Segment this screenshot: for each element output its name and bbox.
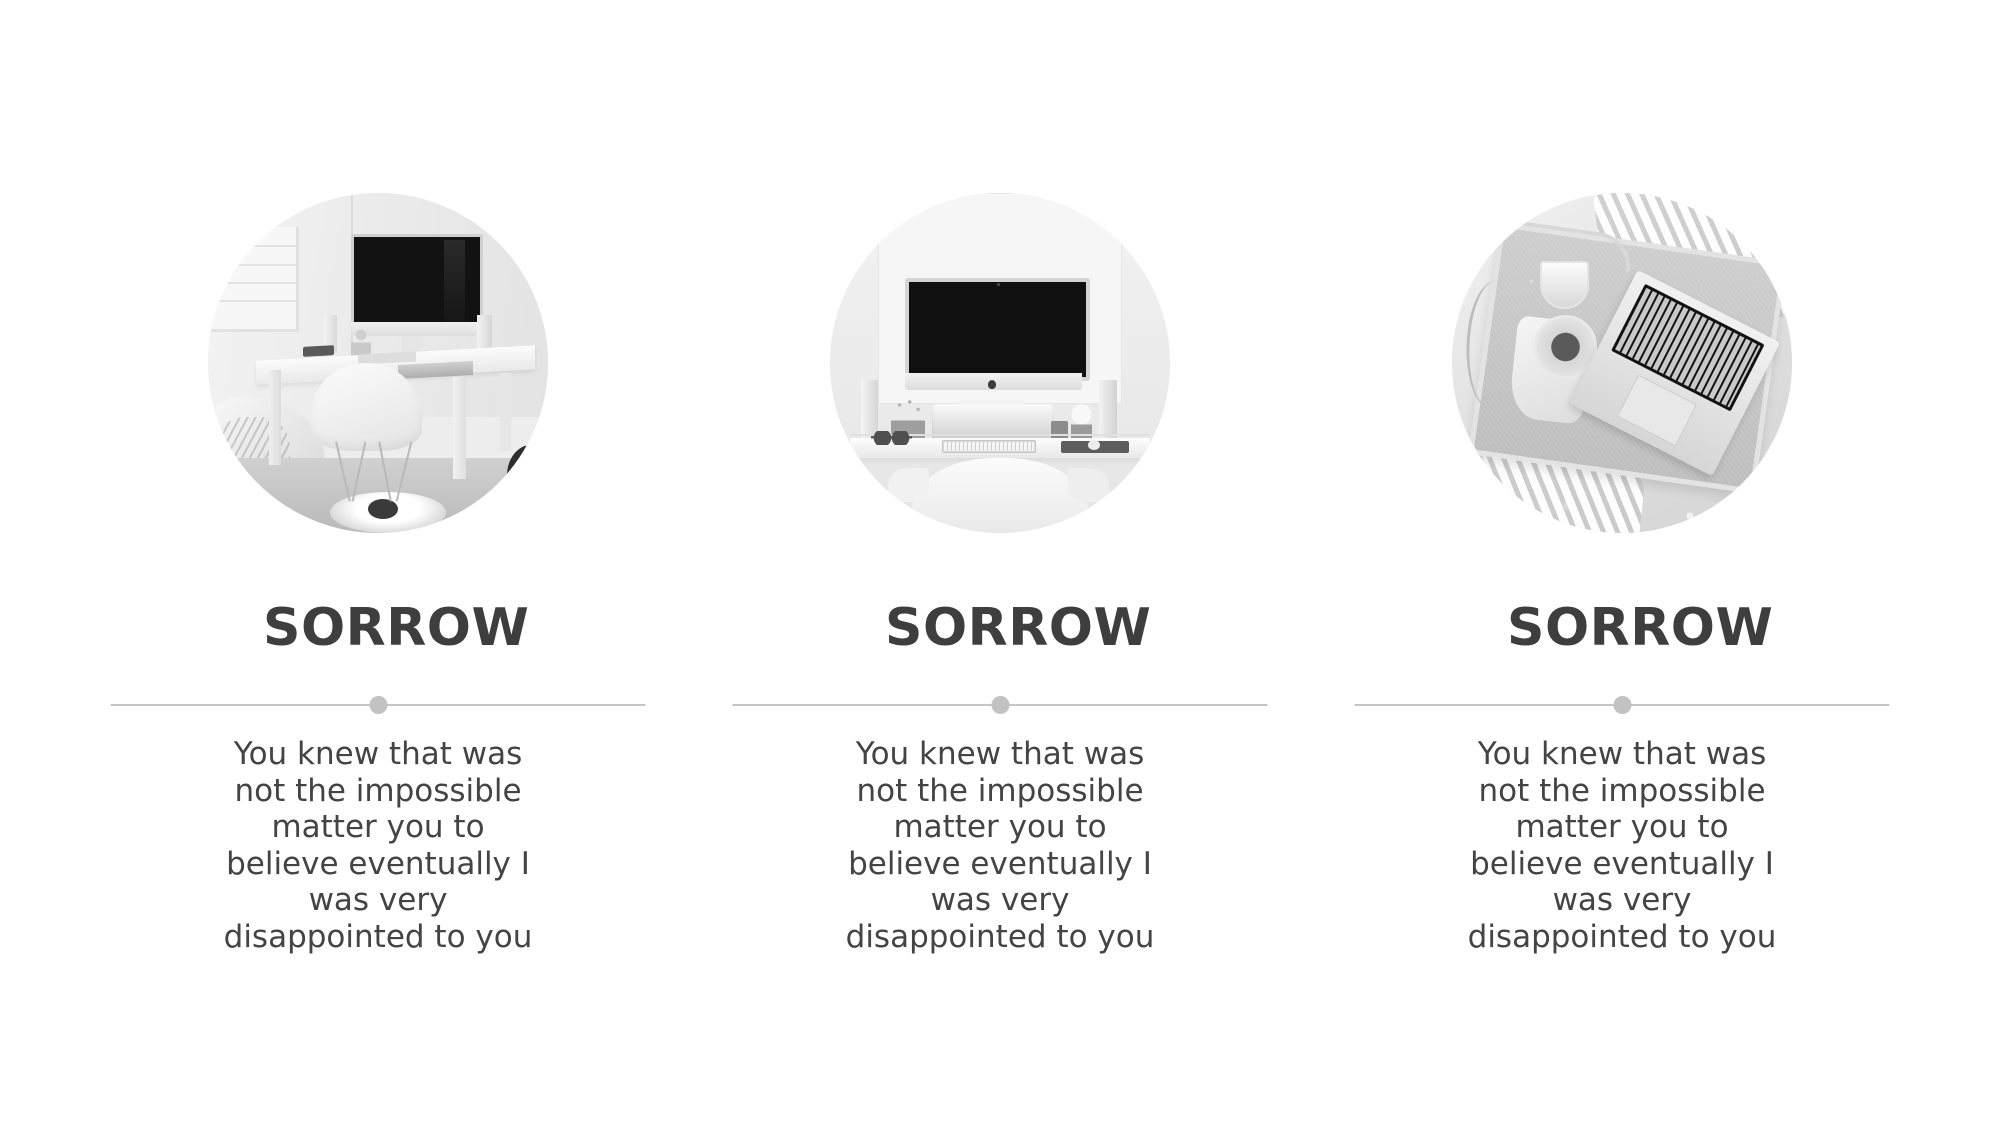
photo-chair-arm-left — [888, 468, 929, 502]
photo-window — [208, 227, 299, 332]
card-title: SORROW — [1507, 600, 1737, 656]
desk-imac-front-photo — [830, 193, 1170, 533]
photo-mug — [1540, 261, 1588, 309]
photo-imac-monitor — [905, 278, 1090, 381]
photo-dark-corner — [507, 445, 548, 506]
photo-desk-leg-left — [269, 370, 281, 465]
feature-cards-row: SORROW You knew that was not the impossi… — [0, 0, 2000, 1125]
card-title: SORROW — [263, 600, 493, 656]
card-body-text: You knew that was not the impossible mat… — [835, 736, 1165, 955]
photo-chair-arm-right — [1068, 468, 1109, 502]
card-title: SORROW — [885, 600, 1115, 656]
photo-headphones — [871, 431, 912, 445]
divider-dot-icon — [1613, 696, 1631, 714]
photo-speaker-right — [1099, 380, 1118, 438]
laptop-on-bed-photo — [1452, 193, 1792, 533]
card-avatar-image[interactable] — [208, 193, 548, 533]
card-divider — [1355, 704, 1890, 706]
desk-imac-side-photo — [208, 193, 548, 533]
page-root: SORROW You knew that was not the impossi… — [0, 0, 2000, 1125]
photo-desk-object — [303, 345, 334, 357]
photo-keyboard — [942, 440, 1036, 454]
photo-desk-leg-far — [500, 373, 510, 451]
photo-plant — [351, 326, 371, 357]
photo-speaker-left — [861, 380, 878, 438]
photo-desk-leg-right — [453, 377, 467, 479]
photo-apple-logo-icon — [988, 380, 996, 389]
photo-webcam — [997, 283, 1000, 286]
card-avatar-image[interactable] — [830, 193, 1170, 533]
divider-dot-icon — [369, 696, 387, 714]
feature-card[interactable]: SORROW You knew that was not the impossi… — [689, 0, 1311, 1125]
photo-chair-legs — [337, 441, 412, 502]
card-divider — [111, 704, 646, 706]
card-avatar-image[interactable] — [1452, 193, 1792, 533]
card-divider — [733, 704, 1268, 706]
photo-mouse — [1088, 440, 1100, 450]
photo-imac-monitor — [351, 234, 483, 328]
card-body-text: You knew that was not the impossible mat… — [213, 736, 543, 955]
feature-card[interactable]: SORROW You knew that was not the impossi… — [1311, 0, 1933, 1125]
card-body-text: You knew that was not the impossible mat… — [1457, 736, 1787, 955]
divider-dot-icon — [991, 696, 1009, 714]
feature-card[interactable]: SORROW You knew that was not the impossi… — [67, 0, 689, 1125]
